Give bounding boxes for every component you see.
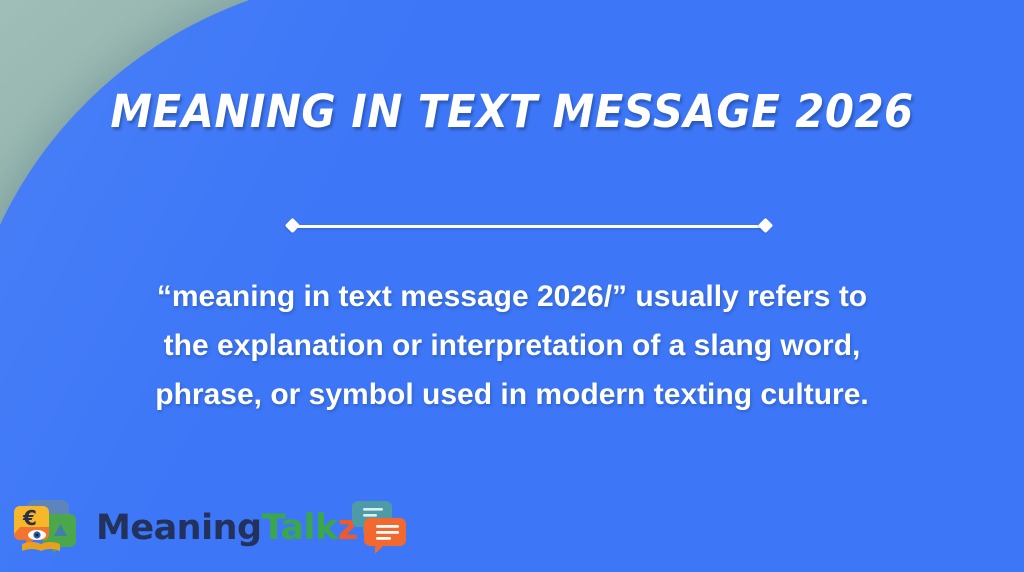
- page-title: MEANING IN TEXT MESSAGE 2026: [36, 88, 988, 135]
- logo[interactable]: € MeaningTalkz: [8, 492, 408, 564]
- diamond-right-icon: [758, 218, 774, 234]
- logo-wordmark: MeaningTalkz: [96, 511, 358, 546]
- slide-canvas: MEANING IN TEXT MESSAGE 2026 “meaning in…: [0, 0, 1024, 572]
- svg-text:€: €: [22, 506, 37, 530]
- divider: [288, 224, 770, 229]
- logo-chat-bubbles-icon: [352, 498, 408, 558]
- divider-line: [296, 225, 762, 228]
- logo-mark-icon: €: [8, 494, 100, 562]
- slide-content: MEANING IN TEXT MESSAGE 2026 “meaning in…: [0, 0, 1024, 572]
- logo-word-talk: Talk: [262, 508, 338, 548]
- logo-word-meaning: Meaning: [96, 508, 262, 548]
- body-text: “meaning in text message 2026/” usually …: [147, 272, 877, 419]
